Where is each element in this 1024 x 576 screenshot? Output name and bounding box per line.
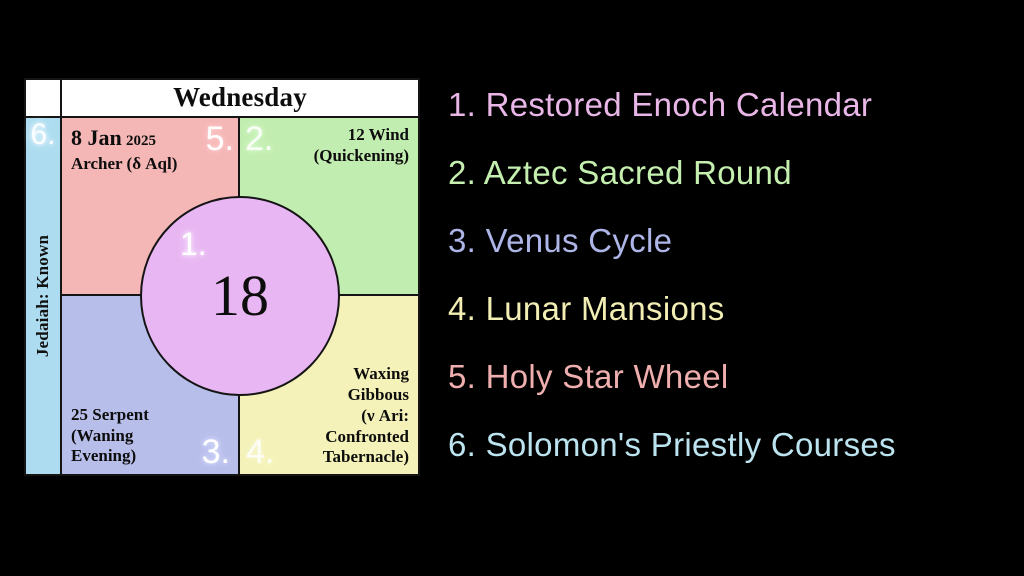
star-name-line: Archer (δ Aql) (71, 154, 229, 175)
legend-item-1[interactable]: 1. Restored Enoch Calendar (448, 88, 1014, 121)
quadrant-bottom-left-text: 25 Serpent (Waning Evening) (71, 405, 186, 467)
mansion-line-3: Tabernacle) (270, 447, 409, 468)
priestly-course-label: Jedaiah: Known (33, 235, 53, 357)
legend-list: 1. Restored Enoch Calendar 2. Aztec Sacr… (448, 88, 1014, 496)
date-year: 2025 (126, 133, 156, 149)
moon-phase-line-2: Gibbous (270, 385, 409, 406)
slide-canvas: Wednesday 6. Jedaiah: Known 5. 8 Jan 202… (0, 0, 1024, 576)
quadrant-marker-3: 3. (202, 435, 230, 469)
calendar-body: 6. Jedaiah: Known 5. 8 Jan 2025 Archer (… (26, 118, 418, 474)
aztec-daysign-line: 12 Wind (249, 125, 409, 146)
legend-item-4[interactable]: 4. Lunar Mansions (448, 292, 1014, 325)
calendar-header-corner-cell (26, 80, 62, 116)
quadrant-top-right-text: 12 Wind (Quickening) (249, 125, 409, 166)
circle-marker-1: 1. (180, 228, 207, 260)
venus-day-line: 25 Serpent (71, 405, 186, 426)
calendar-card: Wednesday 6. Jedaiah: Known 5. 8 Jan 202… (24, 78, 420, 476)
aztec-trecena-line: (Quickening) (249, 146, 409, 167)
enoch-day-number: 18 (211, 267, 269, 325)
legend-item-5[interactable]: 5. Holy Star Wheel (448, 360, 1014, 393)
priestly-course-strip[interactable]: 6. Jedaiah: Known (26, 118, 62, 474)
strip-marker-6: 6. (30, 120, 55, 150)
quadrant-top-left-text: 8 Jan 2025 Archer (δ Aql) (71, 125, 229, 175)
quadrant-area: 5. 8 Jan 2025 Archer (δ Aql) 2. 12 W (62, 118, 418, 474)
venus-phase-line-1: (Waning (71, 426, 186, 447)
date-day-month: 8 Jan (71, 125, 122, 150)
gregorian-date-line: 8 Jan 2025 (71, 125, 229, 152)
legend-item-3[interactable]: 3. Venus Cycle (448, 224, 1014, 257)
legend-item-6[interactable]: 6. Solomon's Priestly Courses (448, 428, 1014, 461)
mansion-line-1: (ν Ari: (270, 406, 409, 427)
enoch-day-circle[interactable]: 1. 18 (140, 196, 340, 396)
calendar-header-row: Wednesday (26, 80, 418, 118)
legend-item-2[interactable]: 2. Aztec Sacred Round (448, 156, 1014, 189)
weekday-title: Wednesday (62, 80, 418, 116)
venus-phase-line-2: Evening) (71, 446, 186, 467)
mansion-line-2: Confronted (270, 427, 409, 448)
